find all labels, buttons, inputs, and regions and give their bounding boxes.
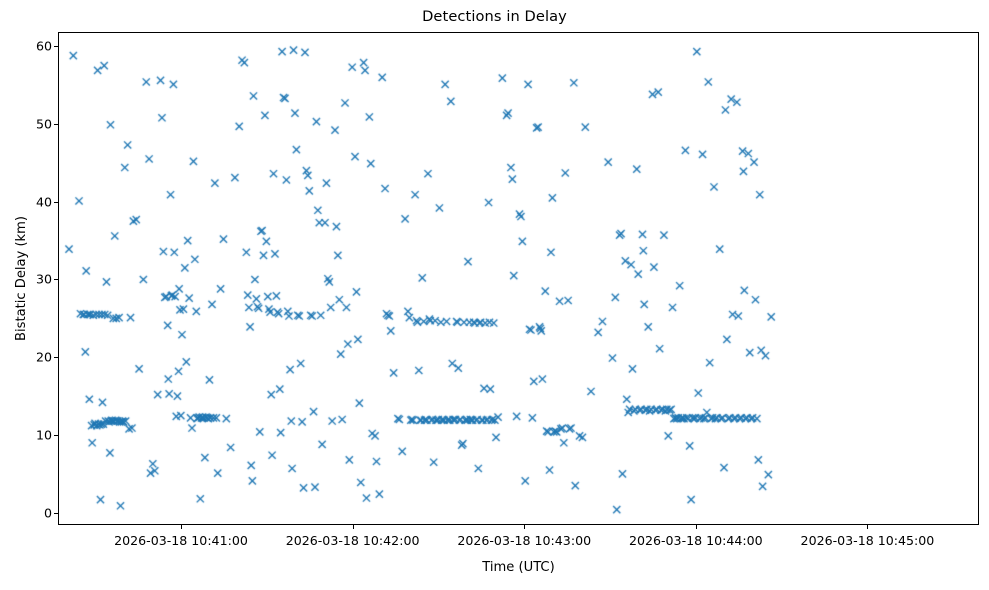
x-axis-label: Time (UTC) xyxy=(58,560,979,575)
x-tick-mark xyxy=(353,525,354,529)
y-tick-mark xyxy=(54,357,58,358)
x-tick-label: 2026-03-18 10:44:00 xyxy=(629,533,763,548)
x-tick-label: 2026-03-18 10:41:00 xyxy=(114,533,248,548)
y-tick-mark xyxy=(54,435,58,436)
scatter-points-canvas xyxy=(59,33,979,525)
y-tick-mark xyxy=(54,202,58,203)
x-tick-label: 2026-03-18 10:43:00 xyxy=(457,533,591,548)
y-tick-mark xyxy=(54,513,58,514)
y-tick-mark xyxy=(54,124,58,125)
page-title: Detections in Delay xyxy=(0,8,989,25)
x-tick-label: 2026-03-18 10:42:00 xyxy=(286,533,420,548)
y-tick-mark xyxy=(54,279,58,280)
x-tick-mark xyxy=(696,525,697,529)
x-tick-mark xyxy=(524,525,525,529)
y-tick-mark xyxy=(54,46,58,47)
matplotlib-figure: Detections in Delay 0102030405060 Bistat… xyxy=(0,0,989,590)
x-tick-mark xyxy=(181,525,182,529)
x-tick-mark xyxy=(867,525,868,529)
y-axis-label: Bistatic Delay (km) xyxy=(14,32,32,525)
plot-area xyxy=(58,32,979,525)
x-tick-label: 2026-03-18 10:45:00 xyxy=(801,533,935,548)
